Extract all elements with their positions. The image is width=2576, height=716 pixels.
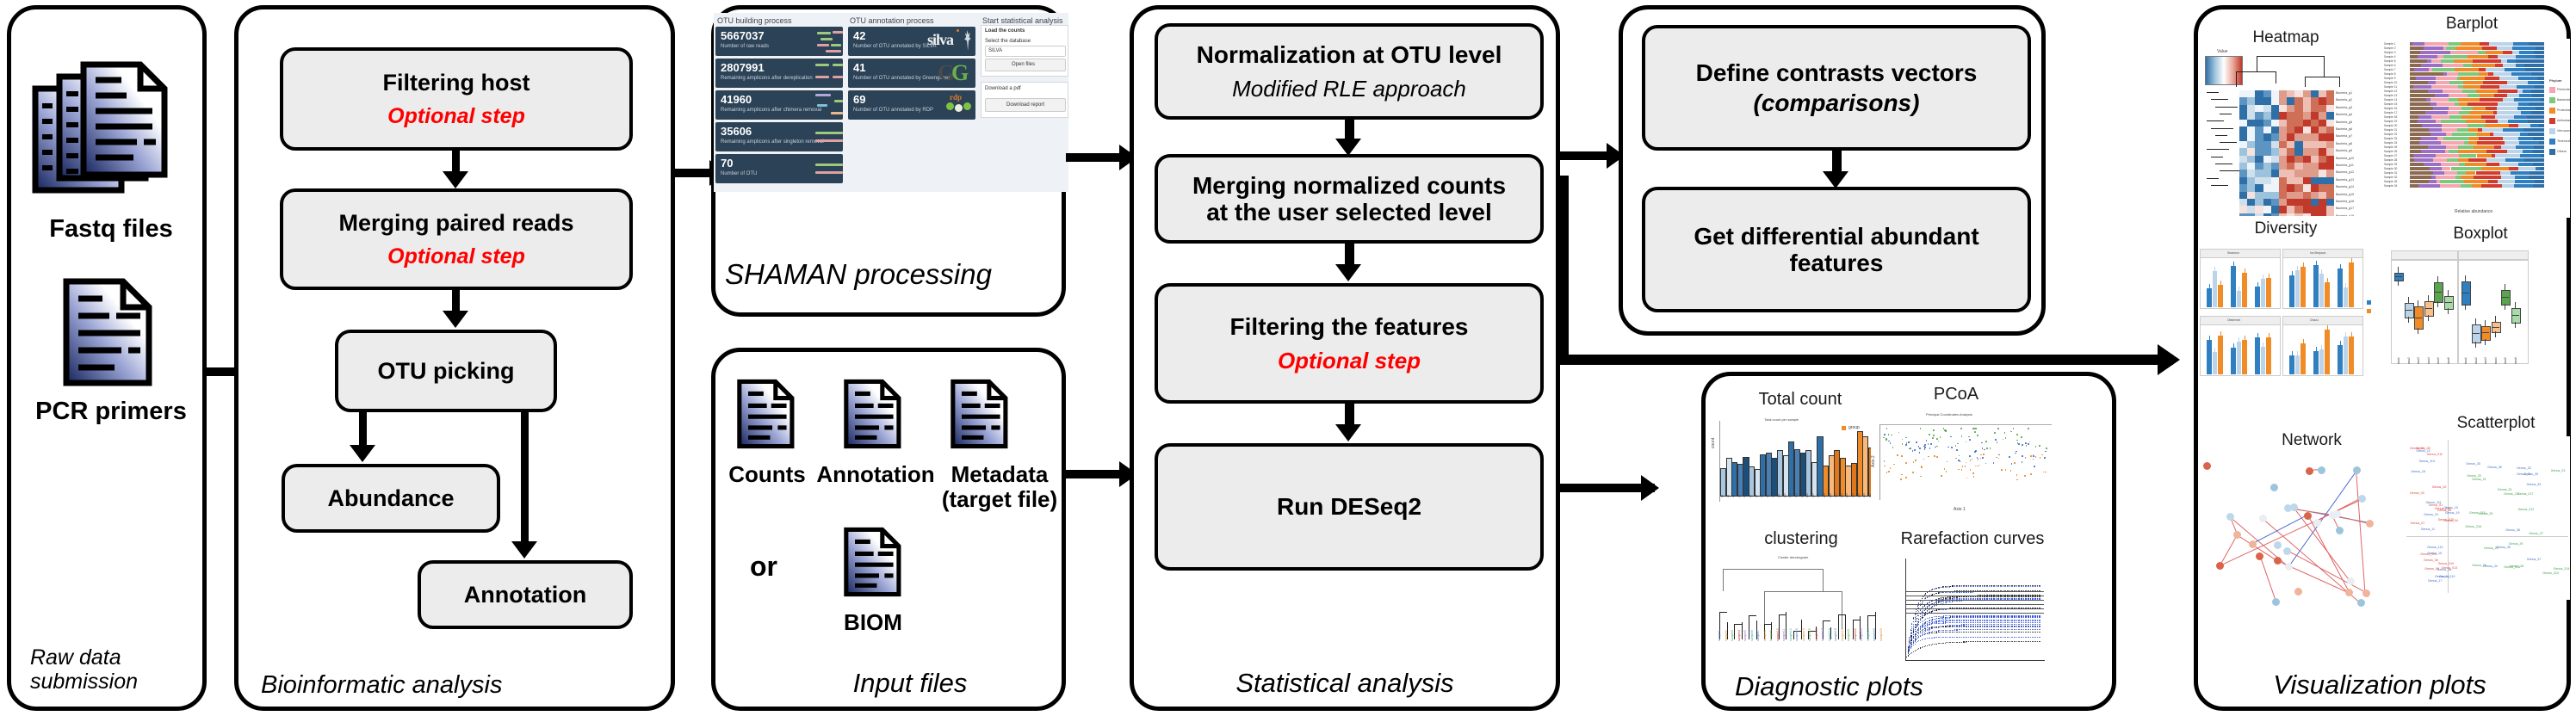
step-title: Merging normalized counts at the user se… xyxy=(1192,172,1506,226)
document-icon xyxy=(843,521,903,603)
step-title: Run DESeq2 xyxy=(1277,493,1421,520)
panel-shaman-processing: OTU building process OTU annotation proc… xyxy=(711,5,1066,317)
shaman-annotation-label-1: Number of OTU annotated by Greengenes xyxy=(853,76,951,81)
scatterplot-plot: Genus_00Genus_01Genus_02Genus_03Genus_04… xyxy=(2405,436,2570,600)
panel-raw-data: Fastq files PCR primers Raw data submiss… xyxy=(7,5,207,711)
panel-contrasts: Define contrasts vectors (comparisons) G… xyxy=(1619,5,2046,336)
input-file-label-1: Annotation xyxy=(812,462,939,487)
shaman-otu-value-3: 35606 xyxy=(721,125,752,138)
diversity-plot: ShannonInv.SimpsonObservedChao1 xyxy=(2198,244,2375,383)
connector-stat-to-visualization xyxy=(1560,176,1569,363)
diagnostic-plot-title-3: Rarefaction curves xyxy=(1886,529,2059,549)
step-normalization: Normalization at OTU level Modified RLE … xyxy=(1155,23,1544,120)
step-title: Get differential abundant features xyxy=(1694,223,1978,277)
panel-visualization-plots: Heatmap Value Bacteria_g1Bacteria_g2Bact… xyxy=(2194,5,2571,711)
step-merging-paired-reads: Merging paired reads Optional step xyxy=(280,188,633,290)
step-subtitle: Optional step xyxy=(387,104,525,128)
shaman-otu-card-1: 2807991 Remaining amplicons after derepl… xyxy=(715,59,843,88)
shaman-otu-card-2: 41960 Remaining amplicons after chimera … xyxy=(715,90,843,120)
shaman-annotation-value-1: 41 xyxy=(853,61,865,74)
shaman-otu-value-2: 41960 xyxy=(721,93,752,106)
step-filtering-features: Filtering the features Optional step xyxy=(1155,283,1544,404)
document-icon xyxy=(736,373,796,455)
arrowhead-stat-to-diagnostic xyxy=(1641,475,1659,501)
visualization-plot-title-4: Network xyxy=(2234,431,2389,450)
shaman-load-counts-panel: Load the counts Select the database SILV… xyxy=(981,25,1068,77)
arrowhead-merge-to-filter xyxy=(1335,264,1361,281)
shaman-otu-label-4: Number of OTU xyxy=(721,171,757,176)
panel-caption-statistical: Statistical analysis xyxy=(1134,670,1556,696)
shaman-download-title: Download a pdf xyxy=(985,86,1021,91)
shaman-otu-label-2: Remaining amplicons after chimera remova… xyxy=(721,108,821,113)
arrowhead-stat-to-visualization xyxy=(2158,344,2180,375)
step-filtering-host: Filtering host Optional step xyxy=(280,47,633,151)
panel-caption-shaman: SHAMAN processing xyxy=(715,258,1062,292)
raw-data-item-label-1: PCR primers xyxy=(18,398,204,426)
shaman-otu-card-0: 5667037 Number of raw reads xyxy=(715,27,843,56)
step-otu-picking: OTU picking xyxy=(335,330,557,412)
shaman-annotation-card-0: 42 Number of OTU annotated by SILVA silv… xyxy=(848,27,975,56)
step-subtitle: (comparisons) xyxy=(1754,89,1920,116)
step-subtitle: Modified RLE approach xyxy=(1232,77,1466,102)
shaman-load-title: Load the counts xyxy=(985,28,1025,34)
raw-data-item-label-0: Fastq files xyxy=(18,216,204,244)
visualization-plot-title-3: Boxplot xyxy=(2403,225,2558,244)
diagnostic-plot-title-1: PCoA xyxy=(1874,385,2038,404)
step-title: Filtering the features xyxy=(1230,313,1469,340)
panel-caption-input-files: Input files xyxy=(715,670,1062,696)
panel-statistical-analysis: Normalization at OTU level Modified RLE … xyxy=(1130,5,1560,711)
document-icon xyxy=(843,373,903,455)
step-subtitle: Optional step xyxy=(1278,349,1421,373)
stacked-documents-icon xyxy=(30,58,176,208)
shaman-select-label: Select the database xyxy=(985,39,1031,44)
step-title: Merging paired reads xyxy=(338,210,573,236)
step-title: Define contrasts vectors xyxy=(1696,59,1978,86)
rarefaction-curves xyxy=(1900,555,2048,670)
visualization-plot-title-2: Diversity xyxy=(2208,219,2363,238)
step-get-differential-abundant-features: Get differential abundant features xyxy=(1642,187,2031,312)
input-file-label-0: Counts xyxy=(715,462,819,487)
shaman-annotation-label-2: Number of OTU annotated by RDP xyxy=(853,108,933,113)
shaman-otu-card-4: 70 Number of OTU xyxy=(715,154,843,183)
shaman-open-files-button[interactable]: Open files xyxy=(985,59,1066,71)
shaman-annotation-value-2: 69 xyxy=(853,93,865,106)
panel-diagnostic-plots: Total count Total count per sample s1s2s… xyxy=(1701,372,2116,711)
shaman-otu-label-0: Number of raw reads xyxy=(721,44,769,49)
arrowhead-norm-to-merge xyxy=(1335,139,1361,156)
shaman-otu-card-3: 35606 Remaining amplicons after singleto… xyxy=(715,122,843,151)
visualization-plot-title-1: Barplot xyxy=(2394,15,2549,34)
shaman-otu-value-4: 70 xyxy=(721,157,733,170)
arrowhead-filter-to-deseq xyxy=(1335,424,1361,441)
visualization-plot-title-0: Heatmap xyxy=(2208,28,2363,47)
step-merging-normalized-counts: Merging normalized counts at the user se… xyxy=(1155,154,1544,244)
shaman-otu-value-1: 2807991 xyxy=(721,61,765,74)
total-count-barchart: Total count per sample s1s2s3s4s5s6s7s8s… xyxy=(1711,414,1879,514)
step-abundance: Abundance xyxy=(282,464,500,533)
shaman-open-files-label: Open files xyxy=(1012,62,1035,67)
shaman-download-button[interactable]: Download report xyxy=(985,98,1066,112)
input-files-or-label: or xyxy=(731,552,796,582)
arrowhead-filter-to-merge xyxy=(443,171,468,188)
shaman-download-panel: Download a pdf Download report xyxy=(981,82,1068,118)
step-title: Normalization at OTU level xyxy=(1197,41,1502,68)
step-subtitle: Optional step xyxy=(387,244,525,268)
arrowhead-merge-to-otu xyxy=(443,311,468,328)
silva-logo-icon: silva xyxy=(927,31,953,49)
panel-caption-visualization: Visualization plots xyxy=(2198,671,2567,698)
connector-otu-to-annotation xyxy=(521,412,529,550)
panel-bioinformatic-analysis: Filtering host Optional step Merging pai… xyxy=(234,5,675,711)
step-define-contrasts-vectors: Define contrasts vectors (comparisons) xyxy=(1642,25,2031,151)
arrowhead-otu-to-annotation xyxy=(511,541,537,559)
arrowhead-contrasts-to-features xyxy=(1823,171,1848,188)
diagnostic-plot-title-0: Total count xyxy=(1714,390,1886,410)
shaman-database-select[interactable]: SILVA xyxy=(985,46,1066,57)
shaman-screenshot: OTU building process OTU annotation proc… xyxy=(714,13,1068,192)
step-title: Abundance xyxy=(327,485,454,511)
network-plot xyxy=(2198,454,2384,626)
diagnostic-plot-title-2: clustering xyxy=(1719,529,1883,549)
clustering-dendrogram: Cluster dendrogram sample1sample2sample3… xyxy=(1711,553,1892,670)
step-title: OTU picking xyxy=(377,358,514,384)
panel-caption-raw-data: Raw data submission xyxy=(30,645,202,695)
panel-input-files: Counts Annotation Metadata (target file)… xyxy=(711,348,1066,711)
boxplot-plot: taxa1taxa2taxa3taxa4taxa5taxa6taxa1taxa2… xyxy=(2389,249,2530,380)
shaman-download-label: Download report xyxy=(1006,102,1044,108)
shaman-annotation-label-0: Number of OTU annotated by SILVA xyxy=(853,44,937,49)
visualization-plot-title-5: Scatterplot xyxy=(2418,414,2573,433)
input-file-label-2: Metadata (target file) xyxy=(932,462,1067,511)
shaman-annotation-value-0: 42 xyxy=(853,29,865,42)
shaman-annotation-card-2: 69 Number of OTU annotated by RDP rdp xyxy=(848,90,975,120)
input-file-label-3: BIOM xyxy=(817,610,929,635)
step-title: Filtering host xyxy=(383,70,530,96)
shaman-select-value: SILVA xyxy=(988,48,1002,53)
heatmap-plot: Value Bacteria_g1Bacteria_g2Bacteria_g3B… xyxy=(2203,49,2375,216)
shaman-column-title-2: Start statistical analysis xyxy=(982,16,1063,25)
rdp-logo-icon: rdp xyxy=(950,93,962,102)
shaman-otu-label-3: Remaining amplicons after singleton remo… xyxy=(721,139,824,145)
shaman-annotation-card-1: 41 Number of OTU annotated by Greengenes… xyxy=(848,59,975,88)
shaman-otu-label-1: Remaining amplicons after dereplication xyxy=(721,76,813,81)
document-icon xyxy=(61,276,156,388)
shaman-column-title-0: OTU building process xyxy=(717,16,792,25)
panel-caption-diagnostic: Diagnostic plots xyxy=(1706,673,2112,700)
document-icon xyxy=(950,373,1010,455)
pcoa-scatter: Principal Coordinates Analysis Axis 1 Ax… xyxy=(1871,409,2057,521)
shaman-column-title-1: OTU annotation process xyxy=(850,16,934,25)
connector-stat-to-visualization-horizontal xyxy=(1560,355,2173,365)
step-annotation: Annotation xyxy=(418,560,633,629)
arrowhead-otu-to-abundance xyxy=(350,445,375,462)
shaman-otu-value-0: 5667037 xyxy=(721,29,765,42)
panel-caption-bioinformatic: Bioinformatic analysis xyxy=(238,673,671,698)
step-title: Annotation xyxy=(464,582,586,608)
barplot-plot: Sample 1Sample 2Sample 3Sample 4Sample 5… xyxy=(2382,39,2570,218)
step-run-deseq2: Run DESeq2 xyxy=(1155,443,1544,571)
workflow-diagram: Fastq files PCR primers Raw data submiss… xyxy=(0,0,2576,716)
